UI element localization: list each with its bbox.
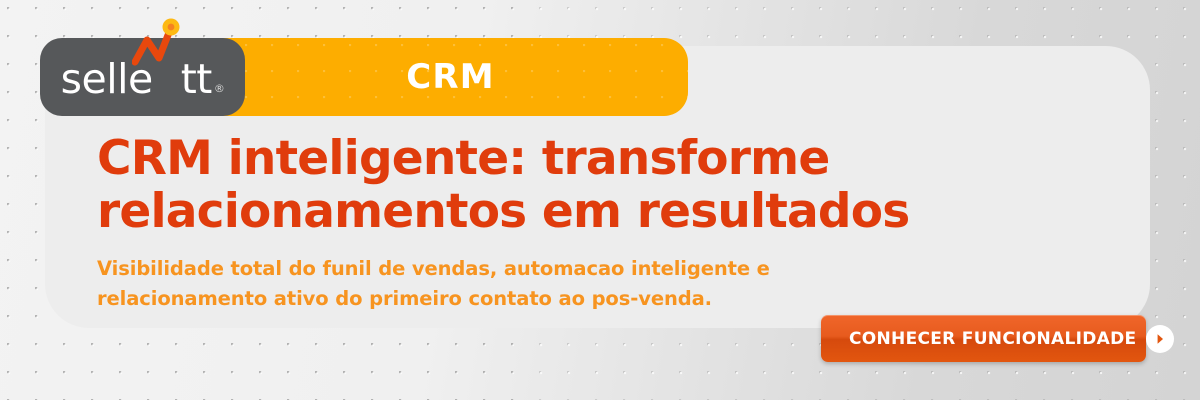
- headline-line-2: relacionamentos em resultados: [97, 186, 997, 239]
- headline-line-1: CRM inteligente: transforme: [97, 133, 997, 186]
- tab-crm-label: CRM: [406, 57, 495, 97]
- conhecer-funcionalidade-button[interactable]: CONHECER FUNCIONALIDADE: [821, 315, 1146, 362]
- registered-trademark-symbol: ®: [214, 83, 225, 94]
- crm-promo-banner: selle tt ® CRM CRM inteligente: transfor…: [0, 0, 1200, 400]
- banner-header-row: selle tt ® CRM: [40, 38, 688, 116]
- hero-text-block: CRM inteligente: transforme relacionamen…: [97, 133, 997, 315]
- tab-crm[interactable]: CRM: [213, 38, 688, 116]
- logo-wordmark: selle tt ®: [61, 59, 225, 100]
- sellentt-logo[interactable]: selle tt ®: [40, 38, 245, 116]
- chevron-right-circle-icon: [1146, 325, 1174, 353]
- hero-subtitle: Visibilidade total do funil de vendas, a…: [97, 254, 927, 314]
- cta-button-label: CONHECER FUNCIONALIDADE: [849, 329, 1136, 349]
- logo-text-part2: tt: [181, 59, 212, 100]
- logo-text-part1: selle: [61, 59, 153, 100]
